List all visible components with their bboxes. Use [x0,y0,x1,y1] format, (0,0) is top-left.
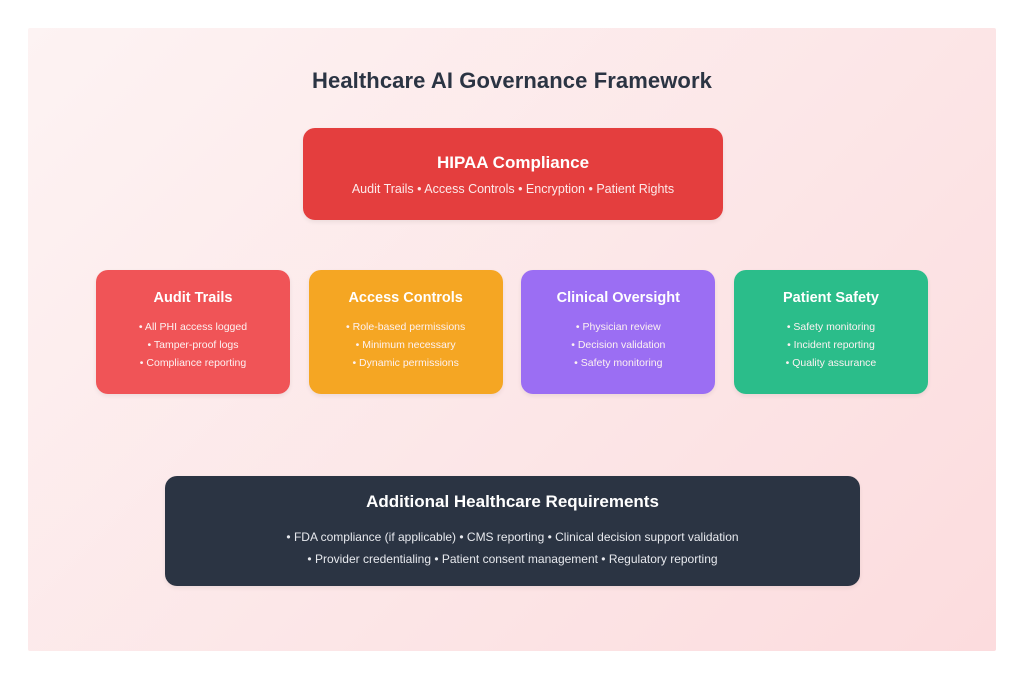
list-item: • Decision validation [531,336,705,354]
pillar-title-patient-safety: Patient Safety [783,290,879,306]
list-item: • Tamper-proof logs [106,336,280,354]
list-item: • Safety monitoring [531,354,705,372]
list-item: • Physician review [531,318,705,336]
list-item: • Incident reporting [744,336,918,354]
pillar-card-patient-safety: Patient Safety • Safety monitoring • Inc… [734,270,928,394]
list-item: • Minimum necessary [319,336,493,354]
pillar-card-audit-trails: Audit Trails • All PHI access logged • T… [96,270,290,394]
pillar-card-row: Audit Trails • All PHI access logged • T… [96,270,928,394]
pillar-title-clinical-oversight: Clinical Oversight [557,290,680,306]
additional-requirements-card: Additional Healthcare Requirements • FDA… [165,476,860,586]
additional-requirements-line: • Provider credentialing • Patient conse… [307,548,717,570]
pillar-card-clinical-oversight: Clinical Oversight • Physician review • … [521,270,715,394]
page-title: Healthcare AI Governance Framework [28,68,996,94]
hipaa-compliance-card: HIPAA Compliance Audit Trails • Access C… [303,128,723,220]
list-item: • Role-based permissions [319,318,493,336]
framework-panel: Healthcare AI Governance Framework HIPAA… [28,28,996,651]
pillar-bullets-clinical-oversight: • Physician review • Decision validation… [531,318,705,372]
pillar-title-audit-trails: Audit Trails [154,290,233,306]
additional-requirements-title: Additional Healthcare Requirements [366,492,659,512]
pillar-bullets-patient-safety: • Safety monitoring • Incident reporting… [744,318,918,372]
hipaa-card-subtitle: Audit Trails • Access Controls • Encrypt… [352,182,674,196]
list-item: • Quality assurance [744,354,918,372]
list-item: • Compliance reporting [106,354,280,372]
list-item: • All PHI access logged [106,318,280,336]
pillar-card-access-controls: Access Controls • Role-based permissions… [309,270,503,394]
pillar-bullets-audit-trails: • All PHI access logged • Tamper-proof l… [106,318,280,372]
pillar-bullets-access-controls: • Role-based permissions • Minimum neces… [319,318,493,372]
list-item: • Safety monitoring [744,318,918,336]
additional-requirements-line: • FDA compliance (if applicable) • CMS r… [286,526,738,548]
list-item: • Dynamic permissions [319,354,493,372]
hipaa-card-title: HIPAA Compliance [437,153,589,173]
pillar-title-access-controls: Access Controls [348,290,462,306]
